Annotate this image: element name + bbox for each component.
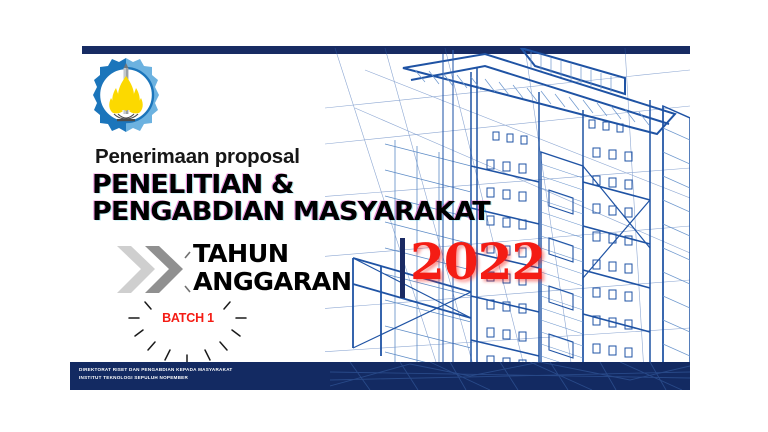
year-divider-bar [400,238,405,298]
batch-label: BATCH 1 [148,311,228,325]
year-value: 2022 [410,235,545,289]
top-navy-rule [82,46,690,54]
poster-root: Penerimaan proposal PENELITIAN & PENGABD… [0,0,768,432]
kicker-text: Penerimaan proposal [95,145,562,169]
headline-block: Penerimaan proposal PENELITIAN & PENGABD… [92,145,562,226]
its-logo [87,56,165,136]
footer-banner: DIREKTORAT RISET DAN PENGABDIAN KEPADA M… [70,362,690,390]
fiscal-year-label-line-2: ANGGARAN [193,268,351,296]
footer-line-1: DIREKTORAT RISET DAN PENGABDIAN KEPADA M… [79,366,232,374]
title-line-2: PENGABDIAN MASYARAKAT [92,199,581,226]
chevron-pair [115,242,193,298]
title-line-1: PENELITIAN & [92,172,581,199]
poster-frame: Penerimaan proposal PENELITIAN & PENGABD… [70,40,690,390]
footer-line-2: INSTITUT TEKNOLOGI SEPULUH NOPEMBER [79,374,232,382]
footer-sketch-overlay [330,362,690,390]
chevron-right-icon-1 [117,246,155,293]
fiscal-year-label-line-1: TAHUN [193,240,351,268]
footer-text: DIREKTORAT RISET DAN PENGABDIAN KEPADA M… [79,366,232,382]
fiscal-year-label: TAHUN ANGGARAN [193,240,351,296]
